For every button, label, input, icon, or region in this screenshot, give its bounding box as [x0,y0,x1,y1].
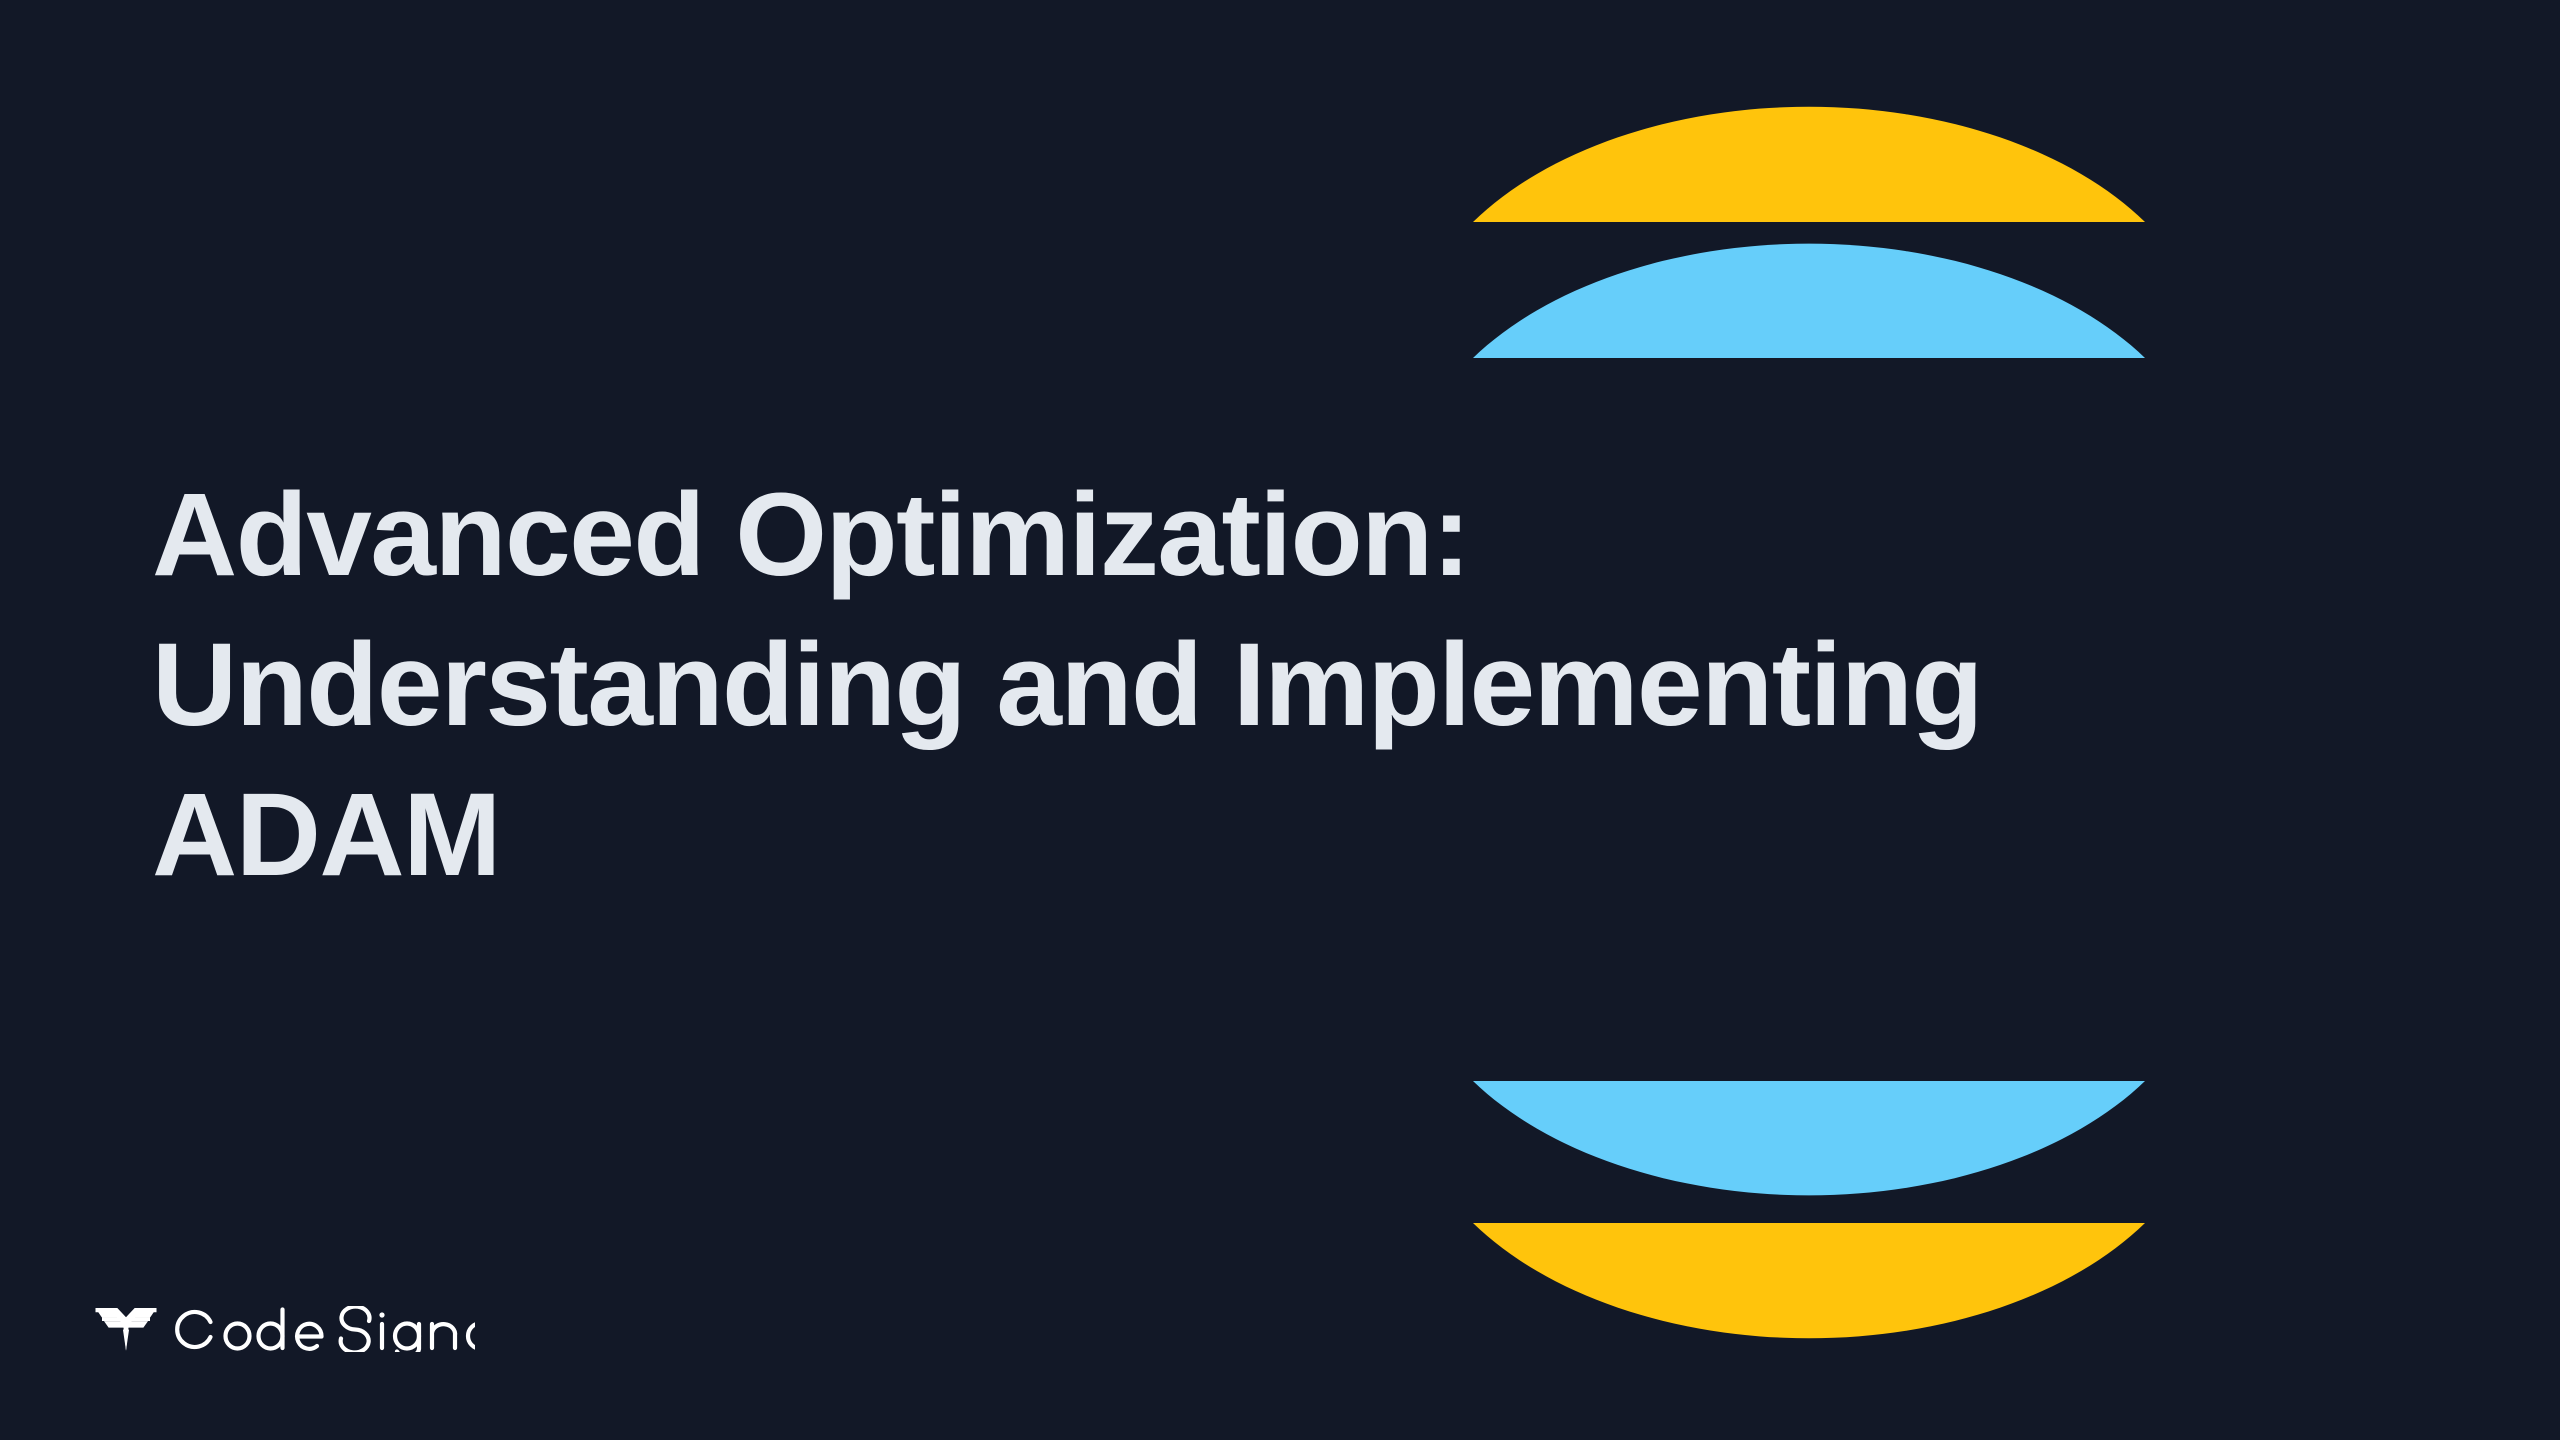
bottom-yellow-arc-icon [1473,1223,2145,1338]
top-arc-cluster [1473,80,2145,362]
bottom-arc-cluster [1473,1077,2145,1359]
title-slide: Advanced Optimization: Understanding and… [0,0,2560,1440]
page-title: Advanced Optimization: Understanding and… [152,460,2202,910]
top-yellow-arc-icon [1473,107,2145,222]
bottom-blue-arc-icon [1473,1081,2145,1195]
title-block: Advanced Optimization: Understanding and… [152,460,2202,910]
top-blue-arc-icon [1473,244,2145,358]
codesignal-wing-mark-icon [95,1304,157,1354]
letter-i-dot [379,1312,384,1317]
codesignal-logo [95,1298,475,1360]
codesignal-wordmark [175,1306,475,1352]
